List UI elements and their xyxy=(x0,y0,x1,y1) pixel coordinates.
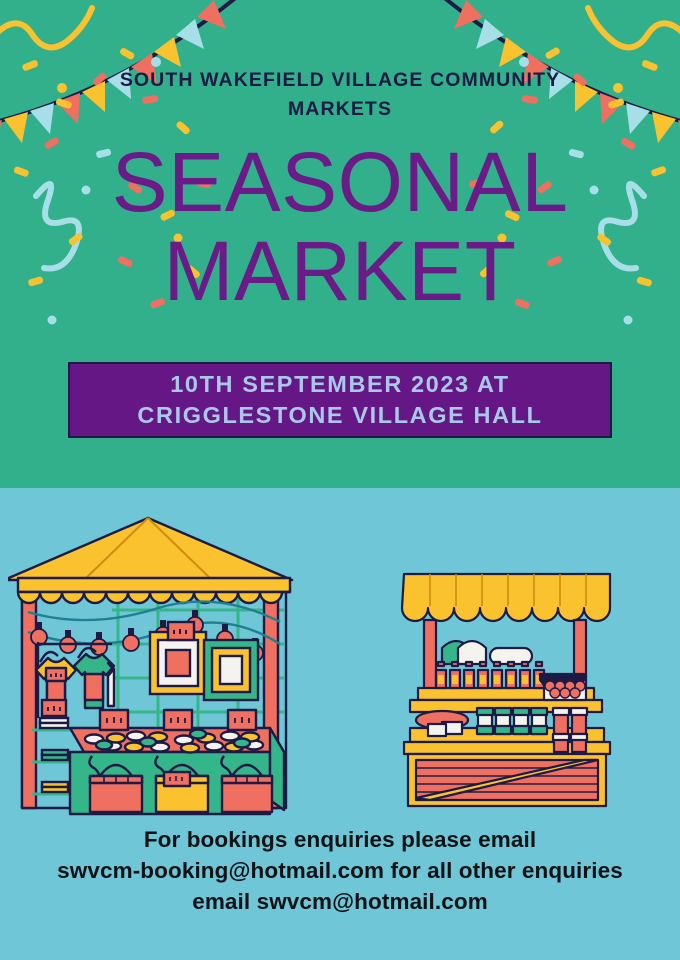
event-details-banner: 10TH SEPTEMBER 2023 AT CRIGGLESTONE VILL… xyxy=(68,362,612,438)
green-framed-picture xyxy=(204,640,258,700)
price-tag xyxy=(168,622,194,640)
folded-clothes xyxy=(40,718,68,792)
shopping-bags xyxy=(89,756,272,812)
clothing-craft-market-stall xyxy=(8,504,300,820)
event-details-text: 10TH SEPTEMBER 2023 AT CRIGGLESTONE VILL… xyxy=(137,369,542,431)
yellow-framed-picture xyxy=(150,632,206,694)
cheese-and-bread xyxy=(442,641,532,664)
food-produce-market-stall xyxy=(398,562,616,817)
green-lid-jars xyxy=(477,708,547,734)
page-title: SEASONAL MARKET xyxy=(0,138,680,316)
tomato-tray xyxy=(540,674,586,700)
price-tag xyxy=(42,700,66,716)
organisation-name: SOUTH WAKEFIELD VILLAGE COMMUNITY MARKET… xyxy=(0,66,680,124)
bottle-row xyxy=(436,662,544,688)
contact-footer: For bookings enquiries please email swvc… xyxy=(0,824,680,917)
market-poster: SOUTH WAKEFIELD VILLAGE COMMUNITY MARKET… xyxy=(0,0,680,960)
